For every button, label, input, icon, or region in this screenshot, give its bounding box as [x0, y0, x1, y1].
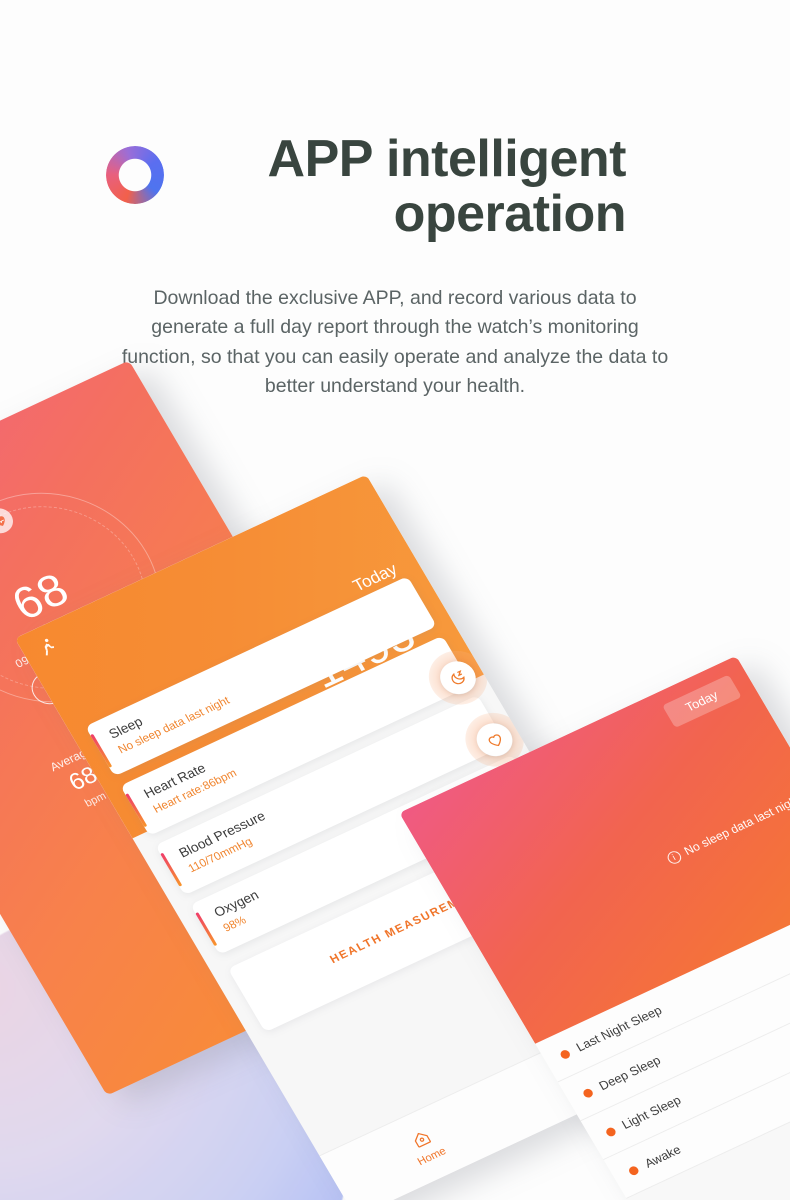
page-root: APP intelligent operation Download the e… [0, 0, 790, 1200]
heart-icon [470, 718, 518, 762]
info-icon: i [665, 849, 683, 866]
sleep-no-data-text: No sleep data last night [682, 793, 790, 858]
page-title: APP intelligent operation [186, 132, 626, 242]
sleep-dot-icon [559, 1048, 572, 1060]
sleep-dot-icon [627, 1165, 640, 1177]
nav-item-home[interactable]: Home [320, 1074, 532, 1200]
sleep-row-label: Awake [642, 1143, 683, 1171]
moon-sleep-icon [434, 656, 482, 700]
sleep-dot-icon [581, 1087, 594, 1099]
sleep-tab-today[interactable]: Today [662, 675, 742, 729]
title-row: APP intelligent operation [0, 132, 790, 242]
home-icon [408, 1126, 435, 1150]
running-person-icon [34, 634, 62, 660]
sleep-no-data-notice: i No sleep data last night [664, 793, 790, 866]
hero-header: APP intelligent operation Download the e… [0, 0, 790, 401]
gradient-ring-logo-icon [106, 146, 164, 204]
sleep-dot-icon [604, 1126, 617, 1138]
hero-description: Download the exclusive APP, and record v… [115, 284, 675, 401]
sleep-row-left: Awake [626, 1143, 683, 1179]
